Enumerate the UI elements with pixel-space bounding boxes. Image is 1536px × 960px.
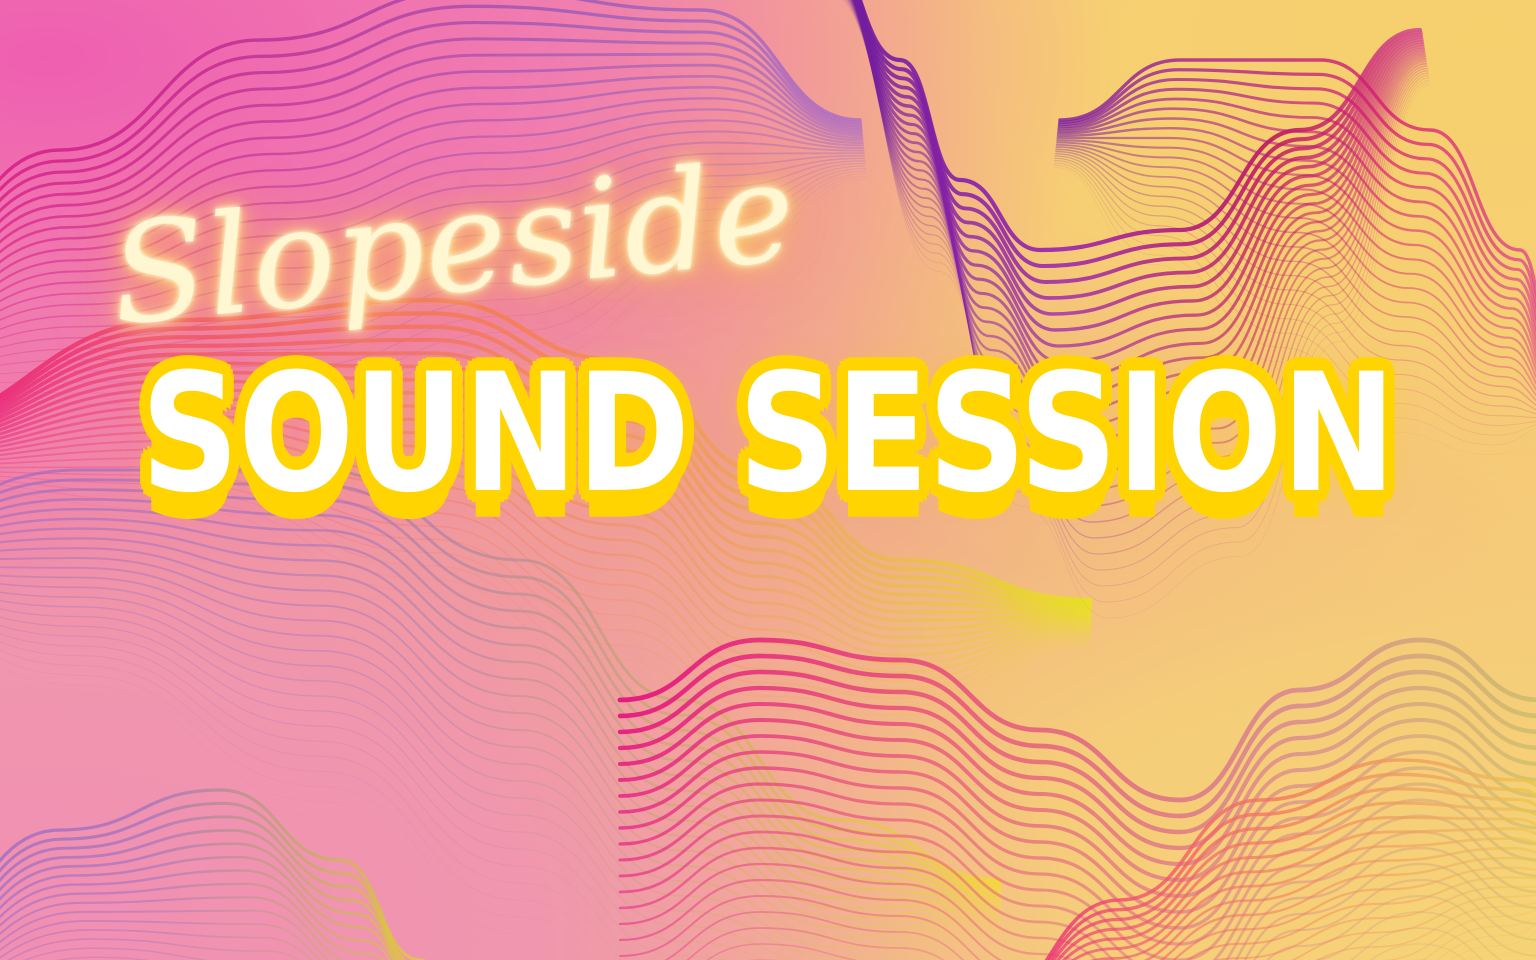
poster-canvas: Slopeside SOUNDSESSION xyxy=(0,0,1536,960)
wave-line-art xyxy=(0,0,1536,960)
